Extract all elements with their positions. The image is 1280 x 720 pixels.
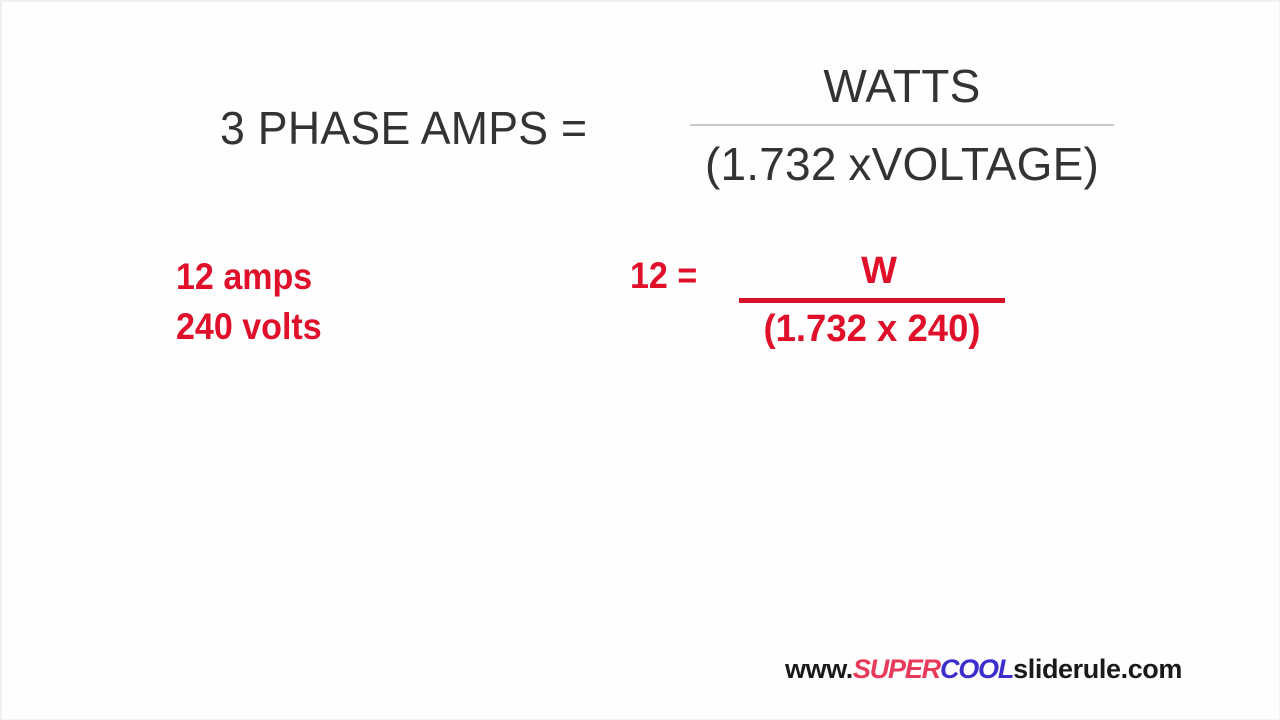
formula-denominator: (1.732 xVOLTAGE)	[690, 126, 1114, 192]
watermark[interactable]: www.SUPERCOOLsliderule.com	[785, 653, 1182, 685]
example-left-hand-side: 12 =	[630, 254, 697, 298]
given-values: 12 amps 240 volts	[176, 252, 322, 352]
main-formula: 3 PHASE AMPS = WATTS (1.732 xVOLTAGE)	[2, 58, 1280, 208]
example-denominator: (1.732 x 240)	[730, 303, 1014, 351]
given-amps: 12 amps	[176, 252, 322, 302]
watermark-brand-cool: COOL	[940, 654, 1013, 684]
watermark-prefix: www.	[785, 654, 853, 684]
formula-left-hand-side: 3 PHASE AMPS =	[220, 102, 587, 154]
formula-denominator-close: VOLTAGE)	[872, 138, 1099, 190]
slide-canvas: 3 PHASE AMPS = WATTS (1.732 xVOLTAGE) 12…	[0, 0, 1280, 720]
example-fraction: W (1.732 x 240)	[724, 250, 1020, 351]
formula-denominator-times: x	[848, 138, 871, 190]
watermark-suffix: sliderule.com	[1013, 654, 1182, 684]
formula-denominator-open: (1.732	[705, 138, 837, 190]
formula-numerator: WATTS	[690, 58, 1114, 124]
formula-fraction: WATTS (1.732 xVOLTAGE)	[690, 58, 1114, 192]
given-volts: 240 volts	[176, 302, 322, 352]
example-numerator: W	[724, 250, 1020, 298]
watermark-brand-super: SUPER	[853, 654, 940, 684]
